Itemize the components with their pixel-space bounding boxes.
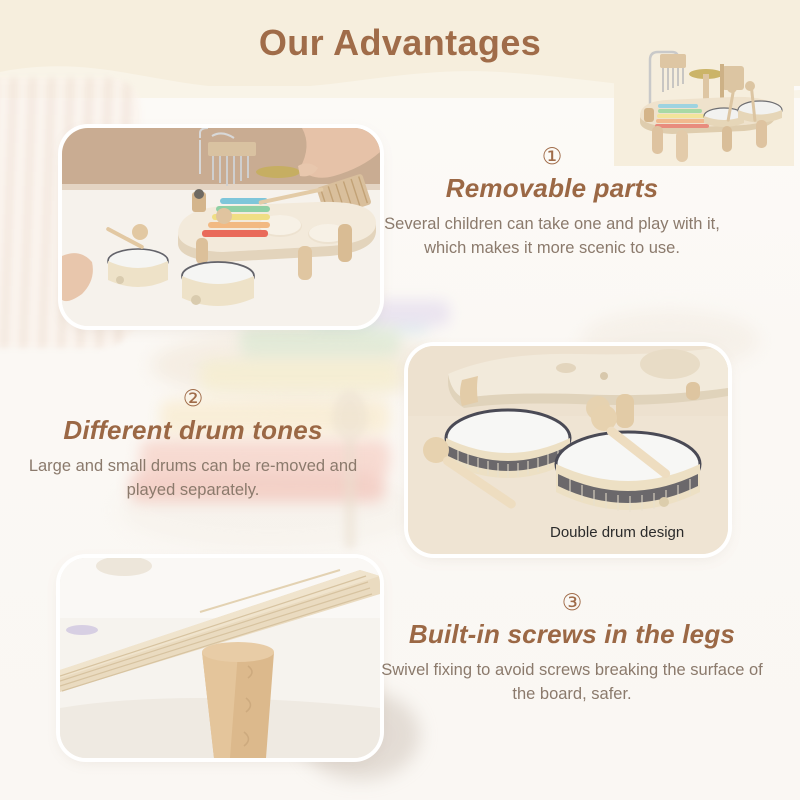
photo-caption-double-drum: Double drum design — [550, 524, 684, 541]
feature-title-2: Different drum tones — [14, 415, 372, 446]
infographic-page: Our Advantages — [0, 0, 800, 800]
page-title: Our Advantages — [0, 22, 800, 64]
feature-number-2: ② — [14, 388, 372, 411]
feature-description-2: Large and small drums can be re-moved an… — [14, 455, 372, 503]
feature-description-1: Several children can take one and play w… — [378, 213, 726, 261]
feature-removable-parts: ① Removable parts Several children can t… — [378, 146, 726, 261]
feature-description-3: Swivel fixing to avoid screws breaking t… — [372, 659, 772, 707]
feature-built-in-screws: ③ Built-in screws in the legs Swivel fix… — [372, 592, 772, 707]
photo-built-in-screws — [60, 558, 380, 758]
photo-removable-parts — [62, 128, 380, 326]
feature-number-3: ③ — [372, 592, 772, 615]
photo-double-drum — [408, 346, 728, 554]
feature-number-1: ① — [378, 146, 726, 169]
feature-different-drum-tones: ② Different drum tones Large and small d… — [14, 388, 372, 503]
feature-title-1: Removable parts — [378, 173, 726, 204]
feature-title-3: Built-in screws in the legs — [372, 619, 772, 650]
